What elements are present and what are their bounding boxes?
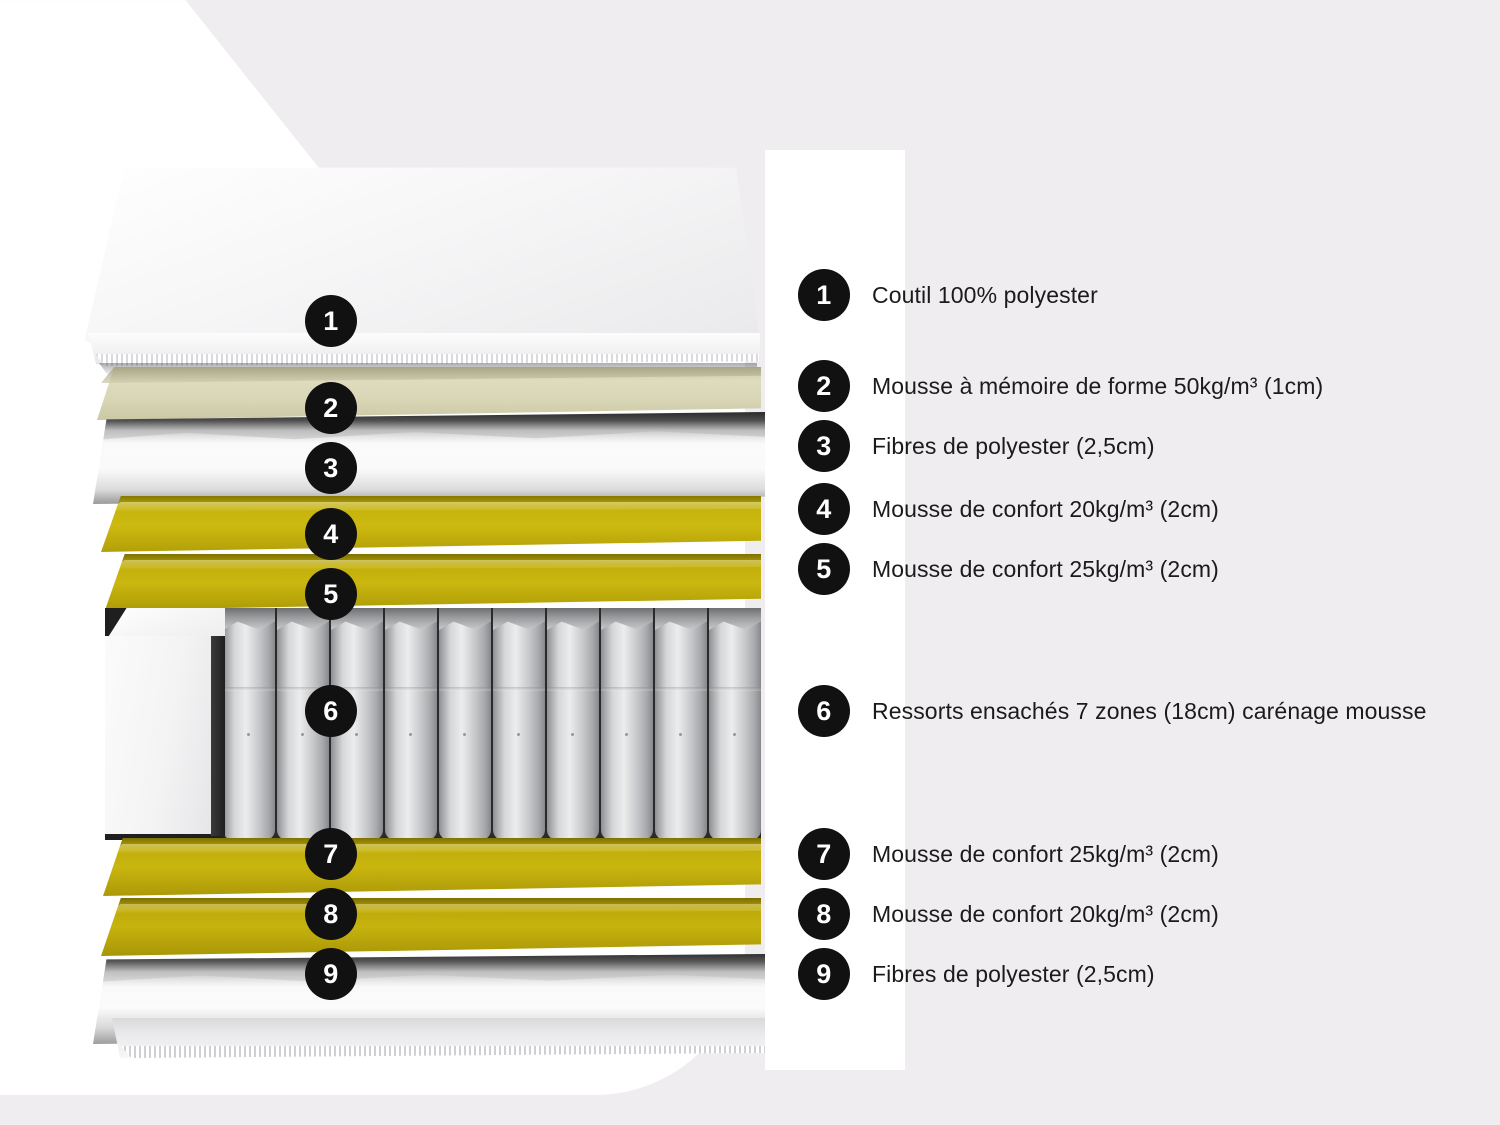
pocket-spring-seam xyxy=(601,687,653,691)
legend-item-4[interactable]: 4 Mousse de confort 20kg/m³ (2cm) xyxy=(798,483,1219,535)
diagram-badge-4[interactable]: 4 xyxy=(305,508,357,560)
diagram-badge-5[interactable]: 5 xyxy=(305,568,357,620)
legend-badge-2[interactable]: 2 xyxy=(798,360,850,412)
diagram-badge-9[interactable]: 9 xyxy=(305,948,357,1000)
foam-edge-support-gap xyxy=(211,636,225,836)
pocket-spring xyxy=(493,608,545,840)
diagram-badge-8[interactable]: 8 xyxy=(305,888,357,940)
legend-badge-1[interactable]: 1 xyxy=(798,269,850,321)
pocket-spring xyxy=(439,608,491,840)
legend-label-9: Fibres de polyester (2,5cm) xyxy=(872,948,1155,992)
legend-item-3[interactable]: 3 Fibres de polyester (2,5cm) xyxy=(798,420,1155,472)
diagram-badge-1[interactable]: 1 xyxy=(305,295,357,347)
legend-item-5[interactable]: 5 Mousse de confort 25kg/m³ (2cm) xyxy=(798,543,1219,595)
legend-badge-6[interactable]: 6 xyxy=(798,685,850,737)
diagram-badge-2[interactable]: 2 xyxy=(305,382,357,434)
pocket-spring-seam xyxy=(385,687,437,691)
legend-label-5: Mousse de confort 25kg/m³ (2cm) xyxy=(872,543,1219,587)
legend-item-6[interactable]: 6 Ressorts ensachés 7 zones (18cm) carén… xyxy=(798,685,1427,737)
foam-edge-support xyxy=(105,608,225,840)
legend-item-8[interactable]: 8 Mousse de confort 20kg/m³ (2cm) xyxy=(798,888,1219,940)
legend-badge-5[interactable]: 5 xyxy=(798,543,850,595)
pocket-spring xyxy=(547,608,599,840)
layer-6-pocket-springs xyxy=(105,608,761,840)
foam-edge-support-front xyxy=(105,636,211,834)
legend-label-3: Fibres de polyester (2,5cm) xyxy=(872,420,1155,464)
layer-9-polyester-fibre-wave xyxy=(93,972,765,1008)
pocket-spring-seam xyxy=(547,687,599,691)
pocket-spring-row xyxy=(223,608,761,840)
pocket-spring xyxy=(601,608,653,840)
pocket-spring-seam xyxy=(493,687,545,691)
legend-badge-7[interactable]: 7 xyxy=(798,828,850,880)
pocket-spring-seam xyxy=(223,687,275,691)
pocket-spring-seam xyxy=(709,687,761,691)
layer-legend-list: 1 Coutil 100% polyester 2 Mousse à mémoi… xyxy=(798,0,1498,1125)
legend-label-4: Mousse de confort 20kg/m³ (2cm) xyxy=(872,483,1219,527)
pocket-spring xyxy=(385,608,437,840)
legend-badge-4[interactable]: 4 xyxy=(798,483,850,535)
legend-badge-8[interactable]: 8 xyxy=(798,888,850,940)
legend-label-1: Coutil 100% polyester xyxy=(872,269,1098,313)
diagram-badge-6[interactable]: 6 xyxy=(305,685,357,737)
diagram-badge-3[interactable]: 3 xyxy=(305,442,357,494)
mattress-cutaway-illustration: 1 2 3 4 5 6 7 8 9 xyxy=(75,160,765,1040)
pocket-spring xyxy=(223,608,275,840)
pocket-spring xyxy=(709,608,761,840)
legend-item-1[interactable]: 1 Coutil 100% polyester xyxy=(798,269,1098,321)
layer-3-polyester-fibre-wave xyxy=(93,428,765,468)
legend-item-7[interactable]: 7 Mousse de confort 25kg/m³ (2cm) xyxy=(798,828,1219,880)
legend-badge-3[interactable]: 3 xyxy=(798,420,850,472)
legend-item-9[interactable]: 9 Fibres de polyester (2,5cm) xyxy=(798,948,1155,1000)
legend-label-7: Mousse de confort 25kg/m³ (2cm) xyxy=(872,828,1219,872)
legend-label-6: Ressorts ensachés 7 zones (18cm) carénag… xyxy=(872,685,1427,729)
pocket-spring-seam xyxy=(439,687,491,691)
legend-label-2: Mousse à mémoire de forme 50kg/m³ (1cm) xyxy=(872,360,1323,404)
pocket-spring-seam xyxy=(655,687,707,691)
legend-badge-9[interactable]: 9 xyxy=(798,948,850,1000)
legend-label-8: Mousse de confort 20kg/m³ (2cm) xyxy=(872,888,1219,932)
diagram-badge-7[interactable]: 7 xyxy=(305,828,357,880)
pocket-spring xyxy=(655,608,707,840)
layer-1-cover-top xyxy=(80,160,760,350)
legend-item-2[interactable]: 2 Mousse à mémoire de forme 50kg/m³ (1cm… xyxy=(798,360,1323,412)
diagram-stage: 1 2 3 4 5 6 7 8 9 1 Coutil 100% polyeste… xyxy=(0,0,1500,1125)
